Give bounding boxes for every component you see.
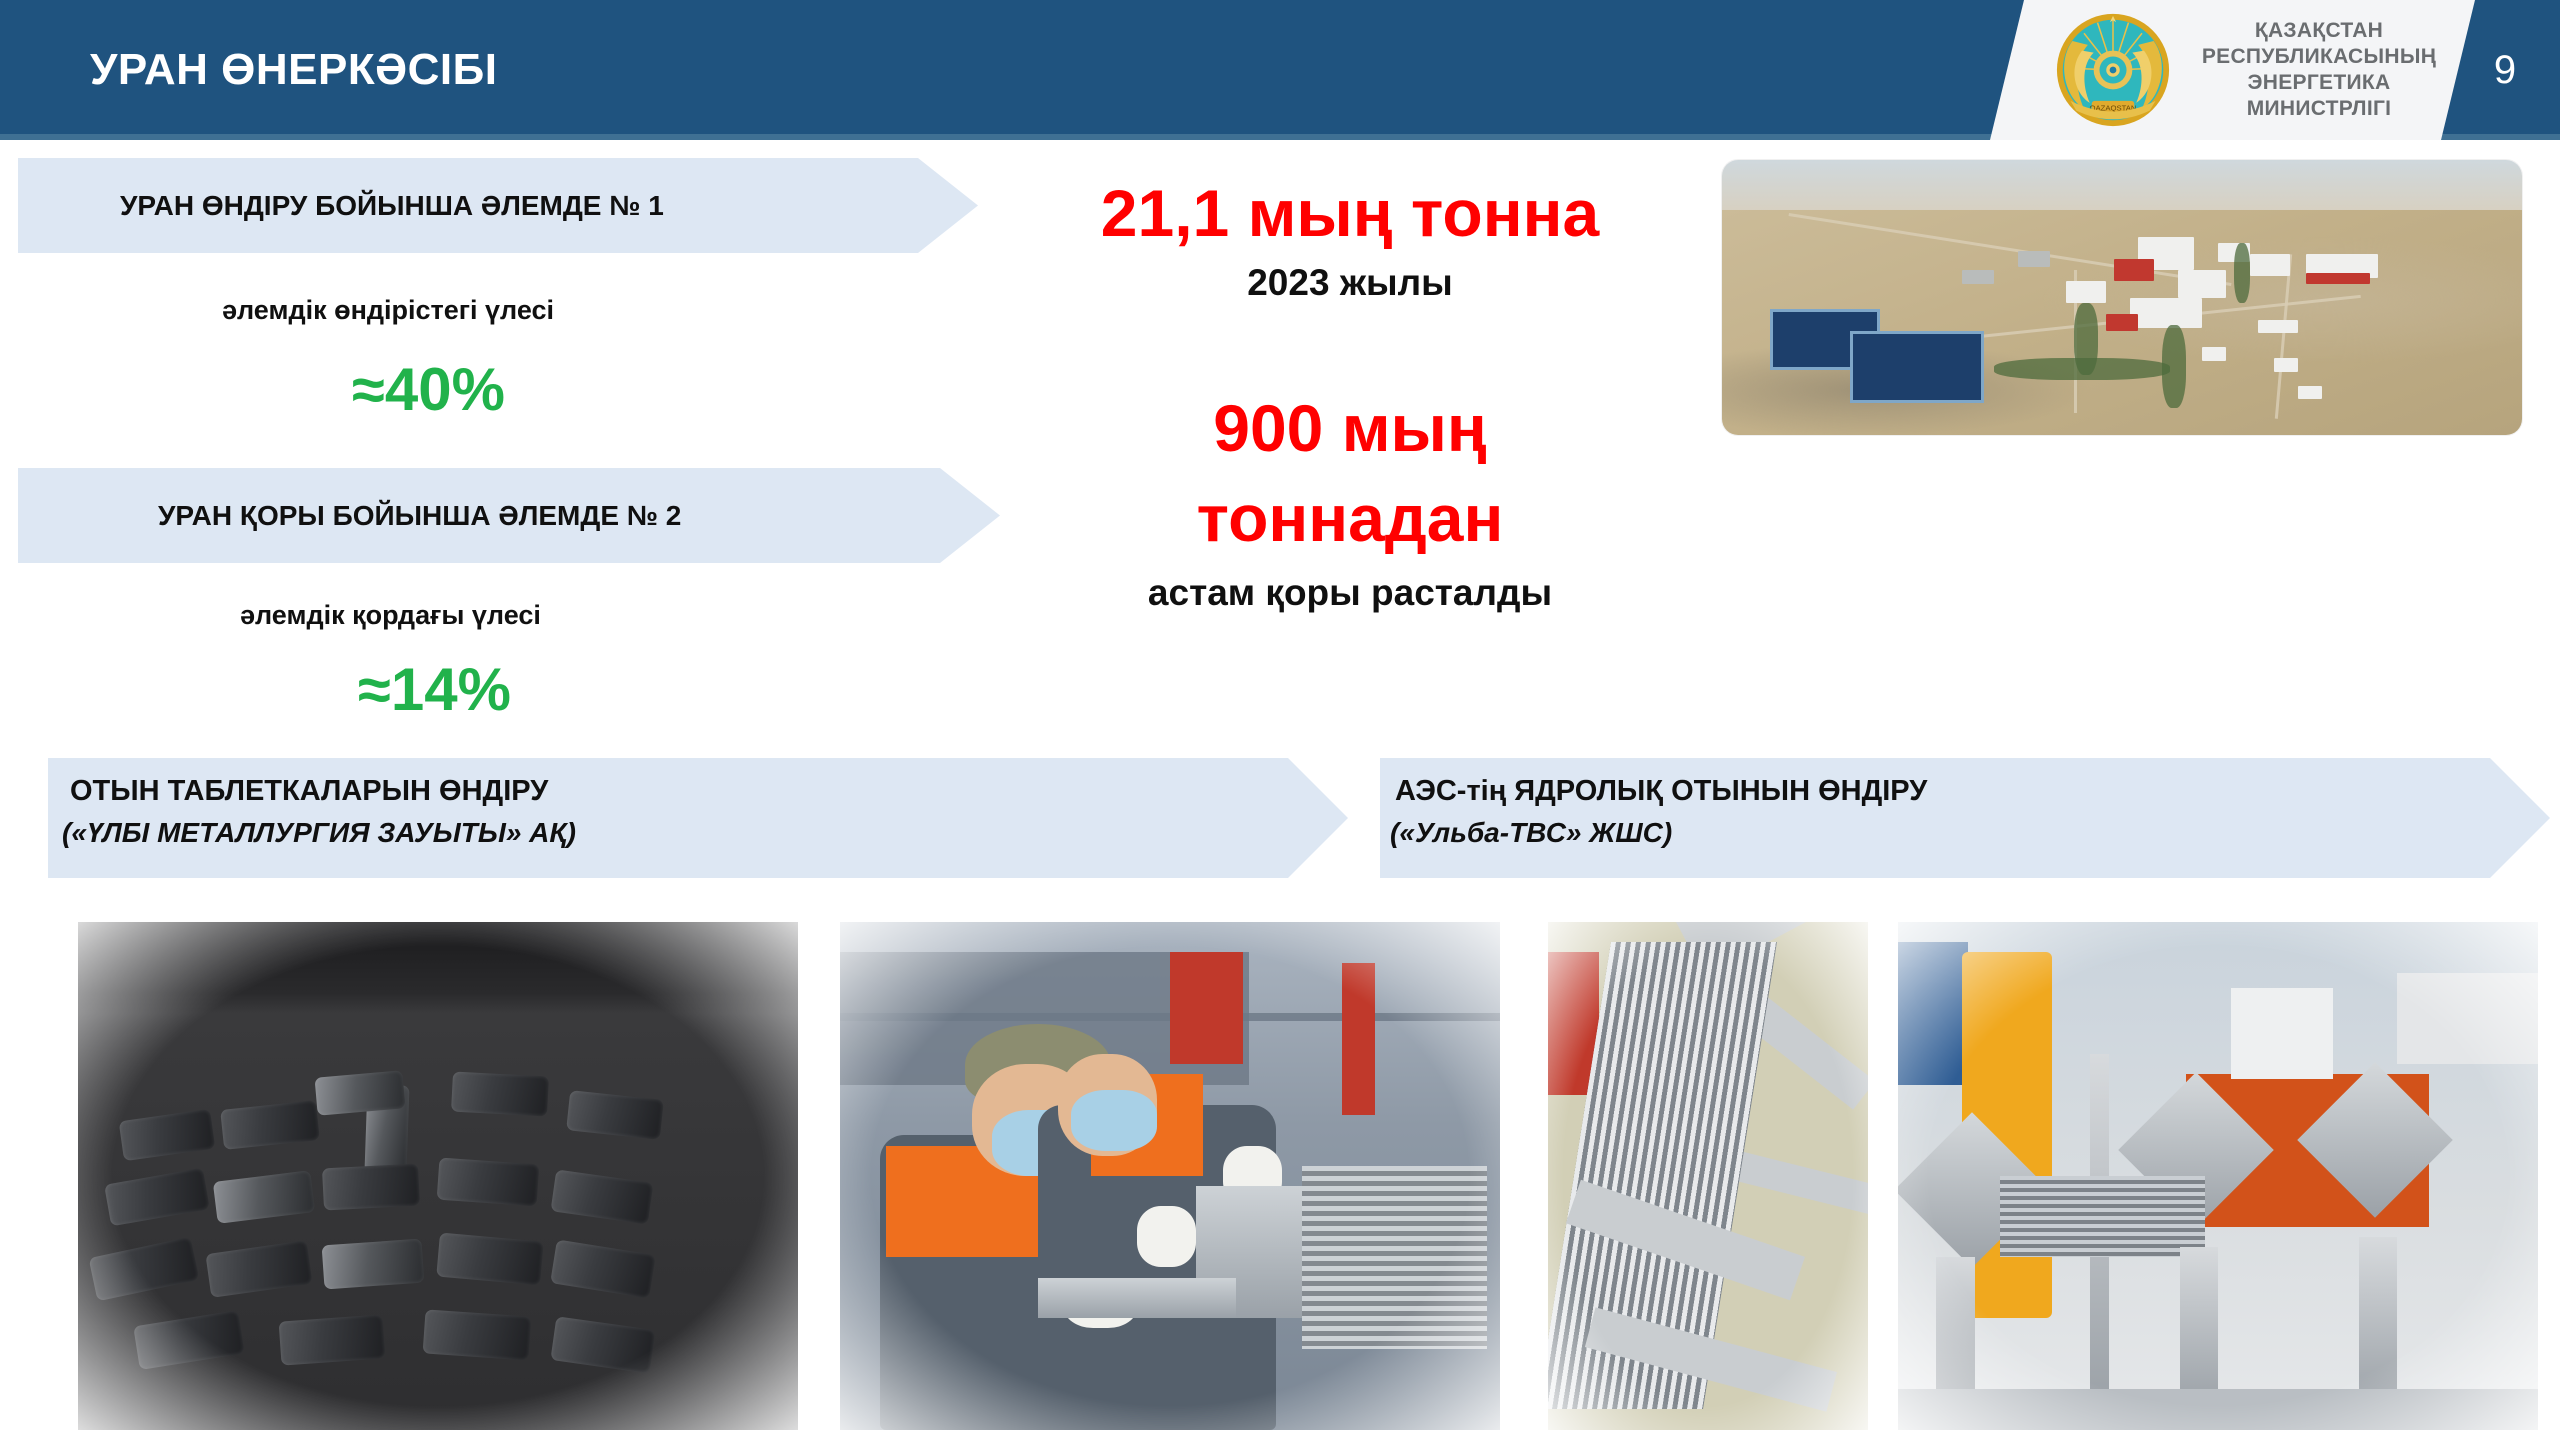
reserve-share-value: ≈14% [358, 655, 511, 724]
ranking-label-reserves: УРАН ҚОРЫ БОЙЫНША ӘЛЕМДЕ № 2 [158, 500, 681, 532]
pellet-production-title: ОТЫН ТАБЛЕТКАЛАРЫН ӨНДІРУ [70, 775, 548, 808]
mine-building [2130, 298, 2202, 328]
fuel-fixtures-photo [1898, 922, 2538, 1430]
mine-building [1962, 270, 1994, 284]
mine-building [2258, 320, 2298, 334]
reserve-share-caption: әлемдік қордағы үлесі [240, 600, 541, 631]
ministry-name: ҚАЗАҚСТАН РЕСПУБЛИКАСЫНЫҢ ЭНЕРГЕТИКА МИН… [2185, 18, 2453, 122]
aerial-mine-photo [1722, 160, 2522, 435]
reserve-value-line2: тоннадан [1020, 480, 1680, 556]
ministry-line-1: ҚАЗАҚСТАН [2185, 18, 2453, 44]
mine-building [2274, 358, 2298, 372]
control-cabinet [2231, 988, 2333, 1079]
ministry-line-4: МИНИСТРЛІГІ [2185, 96, 2453, 122]
fuel-assembly-stack [1302, 1166, 1487, 1349]
ministry-line-3: ЭНЕРГЕТИКА [2185, 70, 2453, 96]
worker-glove [1137, 1206, 1196, 1267]
mine-building [2066, 281, 2106, 303]
production-share-value: ≈40% [352, 355, 505, 424]
mine-building [2306, 273, 2370, 284]
worker-mask [1071, 1090, 1157, 1151]
fuel-pellet [322, 1163, 420, 1210]
fuel-rod-bundle-photo [1548, 922, 1868, 1430]
fuel-pellet [451, 1072, 549, 1117]
fuel-pellet [422, 1310, 531, 1361]
window-panel [2397, 973, 2538, 1064]
mine-treeline [2234, 243, 2250, 304]
annual-production-value: 21,1 мың тонна [1020, 175, 1680, 251]
mine-treeline [2162, 325, 2186, 408]
metal-tube [1038, 1278, 1236, 1319]
fuel-rod-bundle [2000, 1176, 2205, 1257]
nuclear-fuel-title: АЭС-тің ЯДРОЛЫҚ ОТЫНЫН ӨНДІРУ [1395, 775, 1927, 808]
pellet-production-subtitle: («ҮЛБІ МЕТАЛЛУРГИЯ ЗАУЫТЫ» АҚ) [62, 817, 576, 849]
mine-building [2202, 347, 2226, 361]
fixture-stand [2180, 1247, 2218, 1410]
reserve-caption: астам қоры расталды [1020, 572, 1680, 614]
mine-building [2018, 251, 2050, 268]
mine-pond [1850, 331, 1984, 403]
mine-building [2298, 386, 2322, 400]
ranking-label-production: УРАН ӨНДІРУ БОЙЫНША ӘЛЕМДЕ № 1 [120, 190, 664, 222]
mine-building [2114, 259, 2154, 281]
mine-building [2178, 270, 2226, 298]
fuel-pellet [278, 1315, 385, 1366]
fuel-pellets-photo [78, 922, 798, 1430]
reserve-value-line1: 900 мың [1020, 390, 1680, 466]
mine-treeline [1994, 358, 2170, 380]
fixture-stand [1936, 1257, 1974, 1409]
blue-frame [1898, 942, 1968, 1084]
nuclear-fuel-subtitle: («Ульба-ТВС» ЖШС) [1390, 817, 1672, 849]
floor-rail [1898, 1389, 2538, 1430]
ministry-line-2: РЕСПУБЛИКАСЫНЫҢ [2185, 44, 2453, 70]
fuel-pellet [436, 1233, 543, 1286]
fuel-pellet [314, 1071, 405, 1117]
kazakhstan-emblem-icon: QAZAQSTAN [2055, 12, 2171, 128]
fuel-pellet [321, 1239, 424, 1290]
production-share-caption: әлемдік өндірістегі үлесі [222, 295, 554, 326]
fuel-pellet [437, 1157, 540, 1206]
mine-building [2106, 314, 2138, 331]
fixture-stand [2359, 1237, 2397, 1410]
workers-photo [840, 922, 1500, 1430]
mine-building [2250, 254, 2290, 276]
workshop-red-frame [1170, 952, 1243, 1064]
page-number: 9 [2470, 0, 2540, 140]
annual-production-year: 2023 жылы [1020, 262, 1680, 304]
workshop-red-frame [1342, 963, 1375, 1115]
page-title: УРАН ӨНЕРКӘСІБІ [90, 0, 497, 140]
